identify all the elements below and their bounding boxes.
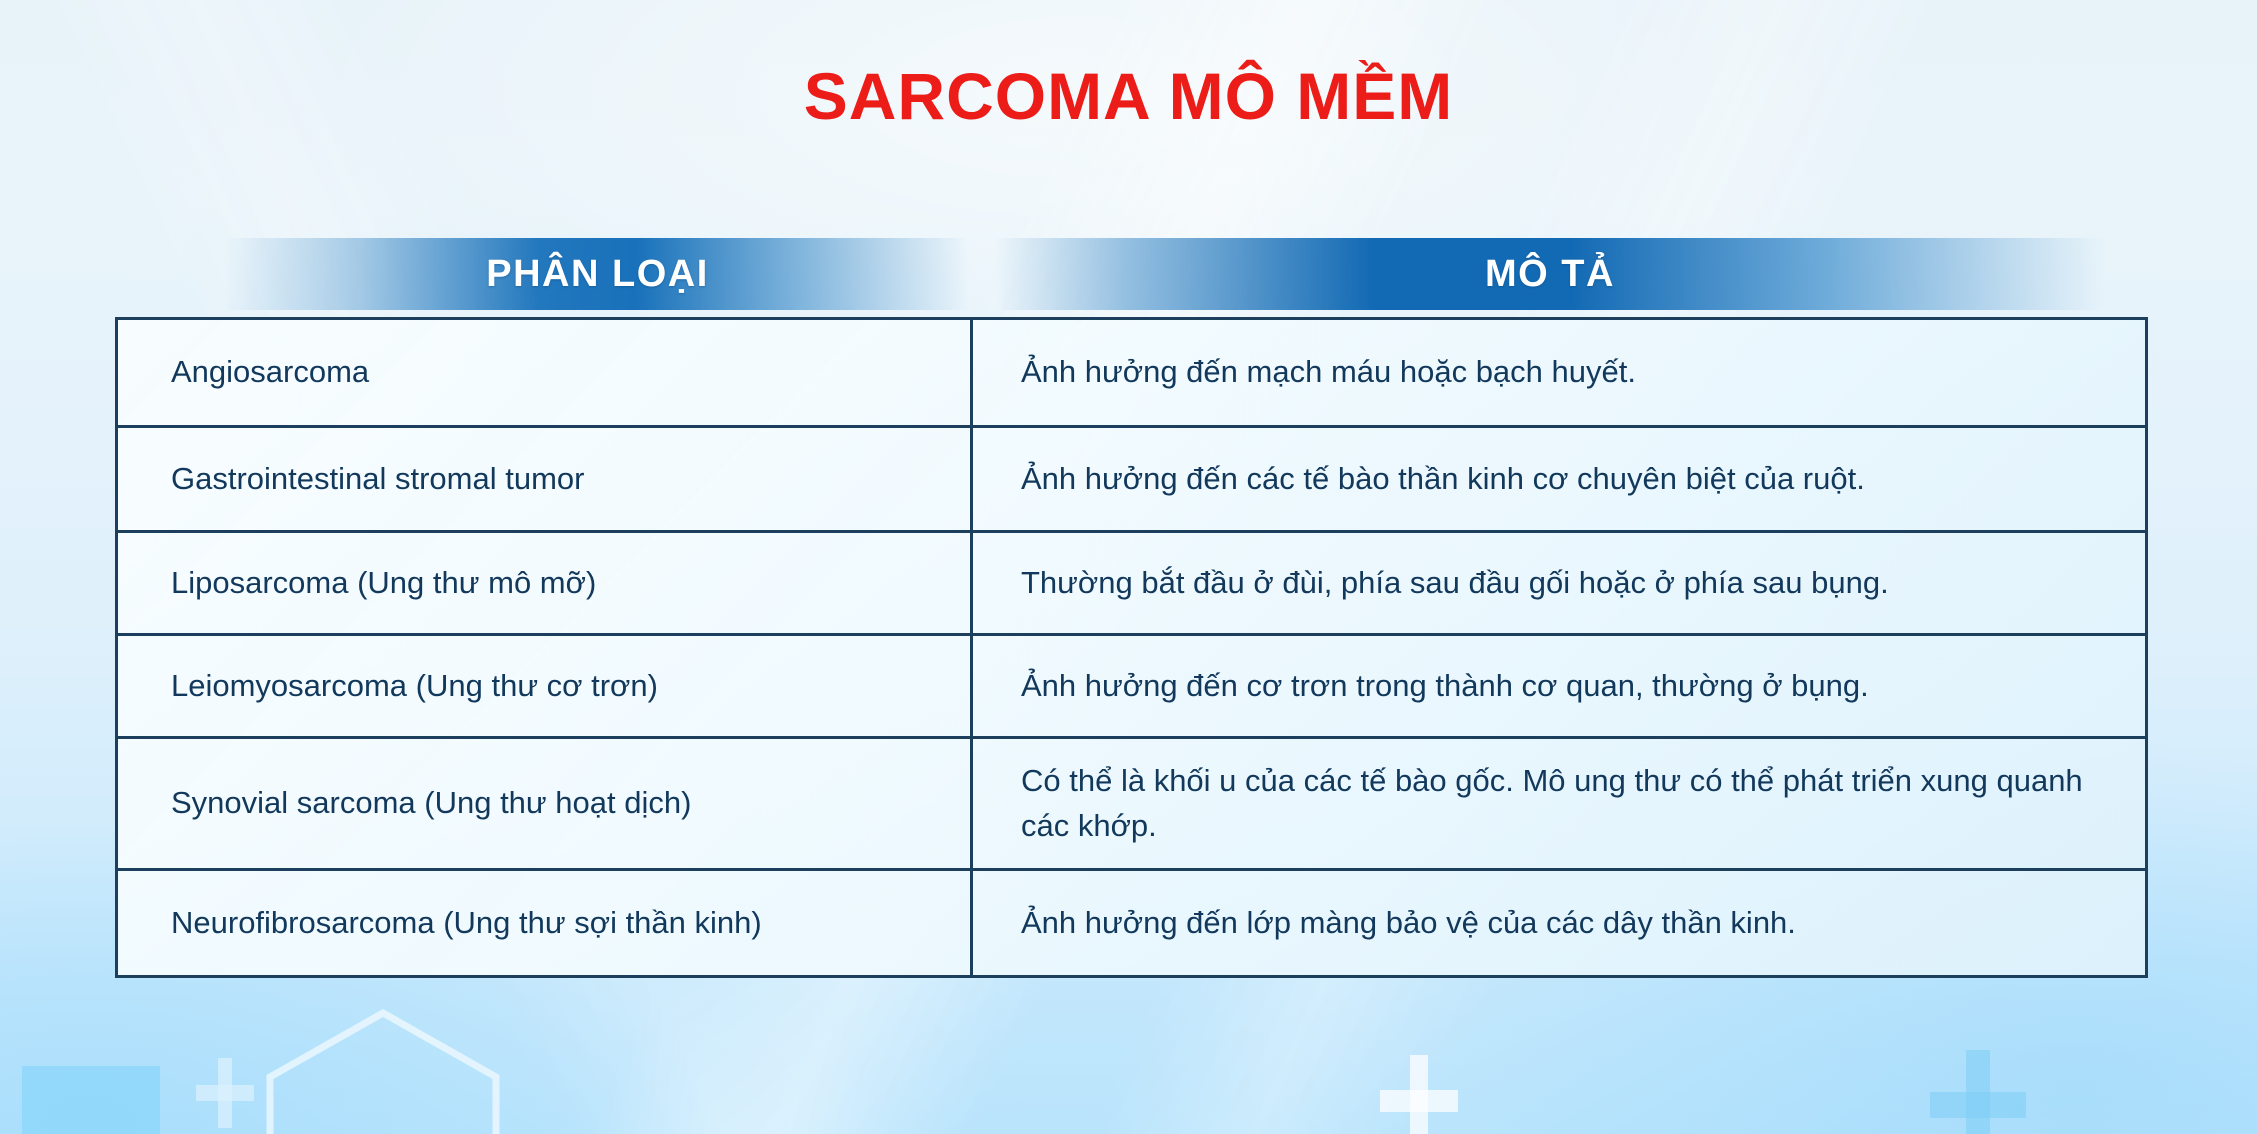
medical-cross-icon-blue [1930,1050,2026,1134]
sarcoma-classification-table: Angiosarcoma Ảnh hưởng đến mạch máu hoặc… [115,317,2148,978]
blue-square-shape [22,1066,160,1134]
table-cell-category: Angiosarcoma [118,320,973,425]
description-text: Có thể là khối u của các tế bào gốc. Mô … [1021,759,2105,847]
table-row: Synovial sarcoma (Ung thư hoạt dịch) Có … [118,739,2145,871]
table-cell-category: Liposarcoma (Ung thư mô mỡ) [118,533,973,633]
table-row: Liposarcoma (Ung thư mô mỡ) Thường bắt đ… [118,533,2145,636]
column-header-category: PHÂN LOẠI [225,238,970,310]
table-row: Leiomyosarcoma (Ung thư cơ trơn) Ảnh hưở… [118,636,2145,739]
table-cell-description: Có thể là khối u của các tế bào gốc. Mô … [973,739,2145,868]
category-text: Neurofibrosarcoma (Ung thư sợi thần kinh… [171,901,762,945]
column-header-category-label: PHÂN LOẠI [486,253,709,296]
column-header-description-label: MÔ TẢ [1485,253,1615,296]
table-cell-description: Ảnh hưởng đến mạch máu hoặc bạch huyết. [973,320,2145,425]
table-cell-description: Thường bắt đầu ở đùi, phía sau đầu gối h… [973,533,2145,633]
category-text: Leiomyosarcoma (Ung thư cơ trơn) [171,664,658,708]
table-row: Neurofibrosarcoma (Ung thư sợi thần kinh… [118,871,2145,975]
table-row: Gastrointestinal stromal tumor Ảnh hưởng… [118,428,2145,533]
table-row: Angiosarcoma Ảnh hưởng đến mạch máu hoặc… [118,320,2145,428]
table-cell-category: Leiomyosarcoma (Ung thư cơ trơn) [118,636,973,736]
table-cell-category: Synovial sarcoma (Ung thư hoạt dịch) [118,739,973,868]
category-text: Gastrointestinal stromal tumor [171,457,584,501]
page-title: SARCOMA MÔ MỀM [0,58,2257,134]
column-header-description: MÔ TẢ [995,238,2105,310]
category-text: Synovial sarcoma (Ung thư hoạt dịch) [171,781,691,825]
description-text: Thường bắt đầu ở đùi, phía sau đầu gối h… [1021,561,1889,605]
medical-cross-icon-white [1380,1055,1458,1134]
description-text: Ảnh hưởng đến các tế bào thần kinh cơ ch… [1021,457,1865,501]
table-cell-category: Gastrointestinal stromal tumor [118,428,973,530]
table-cell-description: Ảnh hưởng đến các tế bào thần kinh cơ ch… [973,428,2145,530]
table-cell-description: Ảnh hưởng đến cơ trơn trong thành cơ qua… [973,636,2145,736]
table-cell-category: Neurofibrosarcoma (Ung thư sợi thần kinh… [118,871,973,975]
description-text: Ảnh hưởng đến lớp màng bảo vệ của các dâ… [1021,901,1796,945]
table-cell-description: Ảnh hưởng đến lớp màng bảo vệ của các dâ… [973,871,2145,975]
description-text: Ảnh hưởng đến mạch máu hoặc bạch huyết. [1021,350,1636,394]
slide-canvas: SARCOMA MÔ MỀM PHÂN LOẠI MÔ TẢ Angiosarc… [0,0,2257,1134]
hexagon-outline-icon [258,1005,508,1134]
category-text: Angiosarcoma [171,350,369,394]
table-header-row: PHÂN LOẠI MÔ TẢ [115,238,2148,310]
category-text: Liposarcoma (Ung thư mô mỡ) [171,561,596,605]
description-text: Ảnh hưởng đến cơ trơn trong thành cơ qua… [1021,664,1869,708]
medical-cross-icon-white-small [196,1058,254,1128]
